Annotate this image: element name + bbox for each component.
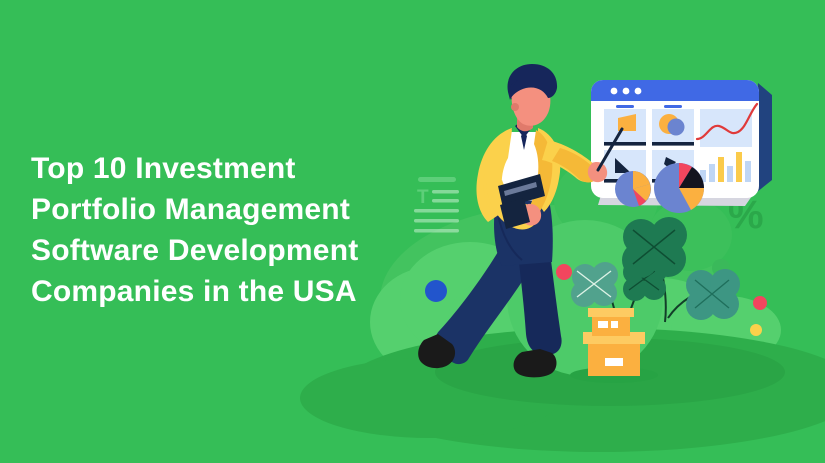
shoe-right — [514, 349, 557, 377]
window-dot-2 — [623, 88, 630, 95]
page-title: Top 10 Investment Portfolio Management S… — [31, 148, 401, 312]
dashboard-card-1 — [604, 105, 646, 146]
dot-yellow — [750, 324, 762, 336]
banner-root: % T — [0, 0, 825, 463]
pie-chart-large — [654, 163, 704, 213]
pie-chart-small — [615, 171, 651, 207]
dot-pink-left — [556, 264, 572, 280]
dashboard-card-2 — [652, 105, 694, 146]
dot-blue — [425, 280, 447, 302]
window-dot-3 — [635, 88, 642, 95]
document-letter-t: T — [417, 187, 429, 208]
dashboard-line-chart — [697, 104, 757, 147]
window-dot-1 — [611, 88, 618, 95]
dot-pink-right — [753, 296, 767, 310]
